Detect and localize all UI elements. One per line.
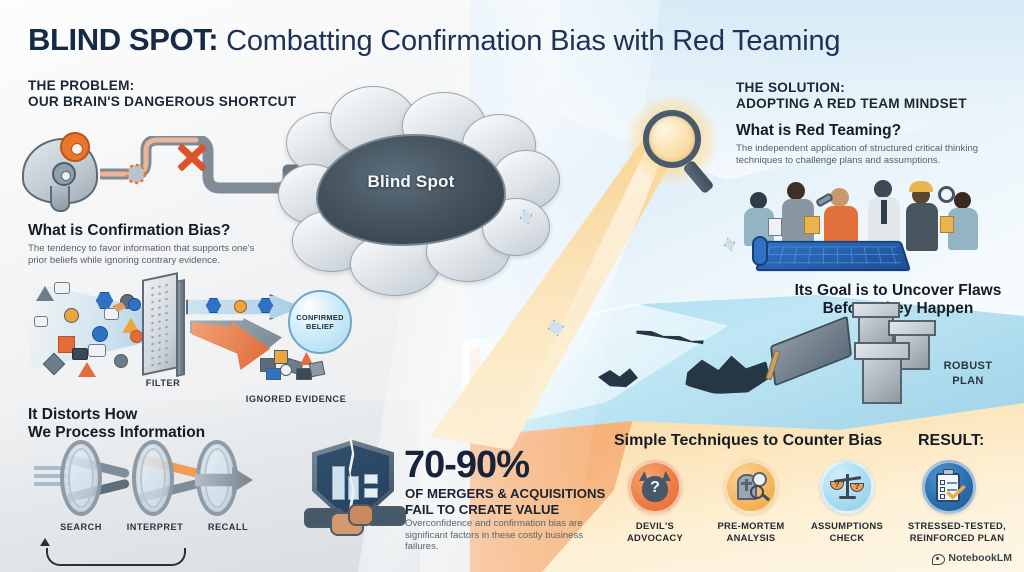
notebooklm-watermark: NotebookLM <box>932 552 1012 564</box>
gear-grey-icon <box>52 162 76 186</box>
lens-search-icon <box>60 440 102 516</box>
feedback-loop-arrowhead <box>40 538 50 546</box>
filter-label: FILTER <box>128 378 198 388</box>
team-magnifier-icon <box>938 186 955 203</box>
devils-advocacy-line2: ADVOCACY <box>605 532 705 544</box>
red-teaming-body: The independent application of structure… <box>736 143 1004 166</box>
blueprint-table <box>755 241 911 271</box>
infographic-canvas: BLIND SPOT: Combatting Confirmation Bias… <box>0 0 1024 572</box>
assumptions-check-line1: ASSUMPTIONS <box>797 520 897 532</box>
distorts-heading-line1: It Distorts How <box>28 406 137 424</box>
notebooklm-label: NotebookLM <box>948 552 1012 564</box>
techniques-heading: Simple Techniques to Counter Bias <box>614 432 882 450</box>
stat-description: Overconfidence and confirmation bias are… <box>405 518 585 553</box>
assumptions-check-line2: CHECK <box>797 532 897 544</box>
solution-kicker: THE SOLUTION: ADOPTING A RED TEAM MINDSE… <box>736 80 967 111</box>
gear-orange-icon <box>60 132 90 162</box>
devils-advocacy-line1: DEVIL'S <box>605 520 705 532</box>
result-heading: RESULT: <box>918 432 984 450</box>
feedback-loop-arrow <box>46 548 186 566</box>
solution-kicker-line1: THE SOLUTION: <box>736 80 967 96</box>
technique-assumptions-check[interactable]: ? ? <box>820 460 874 514</box>
magnifying-glass-icon <box>643 110 701 168</box>
stat-subtitle: OF MERGERS & ACQUISITIONS FAIL TO CREATE… <box>405 486 605 517</box>
technique-label-assumptions-check: ASSUMPTIONS CHECK <box>797 520 897 543</box>
building-icon-3 <box>364 474 378 484</box>
stat-subtitle-line1: OF MERGERS & ACQUISITIONS <box>405 486 605 502</box>
technique-label-result-plan: STRESSED-TESTED, REINFORCED PLAN <box>898 520 1016 543</box>
process-step-interpret: INTERPRET <box>110 522 200 532</box>
blocked-x-icon <box>175 140 209 174</box>
passed-shape-2 <box>234 300 247 313</box>
notebooklm-icon <box>932 553 944 564</box>
technique-pre-mortem[interactable] <box>724 460 778 514</box>
goal-heading-line1: Its Goal is to Uncover Flaws <box>778 282 1018 300</box>
filter-mesh-plate <box>142 272 178 376</box>
problem-kicker: THE PROBLEM: OUR BRAIN'S DANGEROUS SHORT… <box>28 78 296 109</box>
technique-result-plan[interactable] <box>922 460 976 514</box>
pre-mortem-line1: PRE-MORTEM <box>701 520 801 532</box>
pre-mortem-line2: ANALYSIS <box>701 532 801 544</box>
title-bold-part: BLIND SPOT: <box>28 22 218 57</box>
title-rest-part: Combatting Confirmation Bias with Red Te… <box>218 25 840 57</box>
problem-kicker-line1: THE PROBLEM: <box>28 78 296 94</box>
filter-plate-edge <box>176 279 185 377</box>
problem-kicker-line2: OUR BRAIN'S DANGEROUS SHORTCUT <box>28 94 296 110</box>
robust-plan-label-line1: ROBUST <box>926 360 1010 372</box>
process-step-recall: RECALL <box>190 522 266 532</box>
rolled-blueprint <box>752 236 768 266</box>
page-title: BLIND SPOT: Combatting Confirmation Bias… <box>28 22 840 58</box>
stat-subtitle-line2: FAIL TO CREATE VALUE <box>405 502 605 518</box>
lens-interpret-icon <box>132 440 174 516</box>
technique-devils-advocacy[interactable]: ? <box>628 460 682 514</box>
robust-plan-label-line2: PLAN <box>926 375 1010 387</box>
result-plan-line2: REINFORCED PLAN <box>898 532 1016 544</box>
building-icon-1 <box>332 466 345 500</box>
confirmation-bias-body: The tendency to favor information that s… <box>28 243 274 266</box>
confirmation-bias-heading: What is Confirmation Bias? <box>28 222 230 240</box>
building-icon-4 <box>364 488 378 498</box>
technique-label-devils-advocacy: DEVIL'S ADVOCACY <box>605 520 705 543</box>
distorts-heading-line2: We Process Information <box>28 424 205 442</box>
blind-spot-label: Blind Spot <box>336 172 486 192</box>
result-plan-line1: STRESSED-TESTED, <box>898 520 1016 532</box>
handshake-icon <box>304 500 404 546</box>
solution-kicker-line2: ADOPTING A RED TEAM MINDSET <box>736 96 967 112</box>
technique-label-pre-mortem: PRE-MORTEM ANALYSIS <box>701 520 801 543</box>
red-teaming-heading: What is Red Teaming? <box>736 122 901 140</box>
stat-number: 70-90% <box>404 444 529 487</box>
